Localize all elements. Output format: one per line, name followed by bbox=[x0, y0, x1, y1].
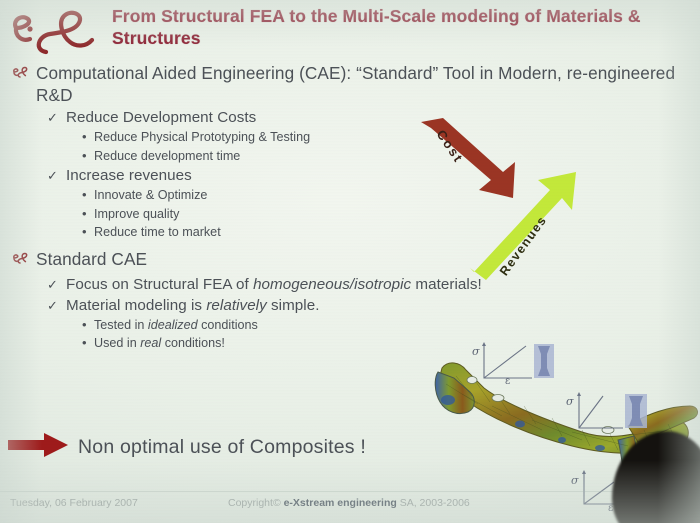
bullet-level3-reduce-prototyping: • Reduce Physical Prototyping & Testing bbox=[0, 128, 700, 147]
exstream-logo-icon bbox=[8, 6, 104, 58]
dot-bullet-icon: • bbox=[82, 146, 87, 165]
footer-divider bbox=[0, 491, 700, 492]
checkmark-icon: ✓ bbox=[47, 274, 58, 295]
bullet-text-emphasis: homogeneous/isotropic bbox=[253, 276, 411, 293]
bullet-text: Reduce time to market bbox=[94, 225, 221, 239]
conclusion-arrow-icon bbox=[8, 432, 70, 463]
conclusion-row: Non optimal use of Composites ! bbox=[8, 432, 366, 463]
footer-copyright: Copyright© e-Xstream engineering SA, 200… bbox=[228, 497, 470, 509]
bullet-text-emphasis: real bbox=[140, 336, 161, 350]
sigma-label-2: σ bbox=[566, 395, 574, 408]
exstream-bullet-icon bbox=[12, 63, 29, 85]
page-title: From Structural FEA to the Multi-Scale m… bbox=[112, 5, 690, 49]
dot-bullet-icon: • bbox=[82, 127, 87, 146]
slide-footer: Tuesday, 06 February 2007 Copyright© e-X… bbox=[0, 497, 700, 513]
bullet-text: Reduce Physical Prototyping & Testing bbox=[94, 130, 310, 144]
bullet-text-suffix: simple. bbox=[267, 297, 320, 314]
bullet-level3-tested-idealized: • Tested in idealized conditions bbox=[0, 316, 700, 335]
stress-strain-diagram-1 bbox=[470, 340, 562, 393]
bullet-level3-reduce-development-time: • Reduce development time bbox=[0, 147, 700, 166]
bullet-text: Improve quality bbox=[94, 207, 179, 221]
bullet-text: Reduce Development Costs bbox=[66, 109, 256, 126]
bullet-text: Innovate & Optimize bbox=[94, 188, 207, 202]
presentation-slide: From Structural FEA to the Multi-Scale m… bbox=[0, 0, 700, 523]
bullet-level2-material-modeling: ✓ Material modeling is relatively simple… bbox=[0, 295, 700, 316]
revenues-arrow-icon bbox=[470, 172, 596, 282]
bullet-text-suffix: conditions bbox=[198, 318, 258, 332]
stress-strain-diagram-2 bbox=[565, 390, 657, 443]
epsilon-label-1: ε bbox=[505, 376, 510, 387]
bullet-level1-cae: Computational Aided Engineering (CAE): “… bbox=[0, 62, 700, 106]
checkmark-icon: ✓ bbox=[47, 295, 58, 316]
bullet-text-prefix: Tested in bbox=[94, 318, 148, 332]
sigma-label-3: σ bbox=[571, 474, 579, 487]
copyright-company: e-Xstream engineering bbox=[284, 497, 397, 509]
bullet-text-prefix: Used in bbox=[94, 336, 140, 350]
dot-bullet-icon: • bbox=[82, 185, 87, 204]
conclusion-text: Non optimal use of Composites ! bbox=[78, 436, 366, 459]
bullet-text: Increase revenues bbox=[66, 167, 192, 184]
bullet-text-emphasis: relatively bbox=[206, 297, 266, 314]
dot-bullet-icon: • bbox=[82, 222, 87, 241]
bullet-text-prefix: Focus on Structural FEA of bbox=[66, 276, 253, 293]
bullet-text: Computational Aided Engineering (CAE): “… bbox=[36, 63, 675, 105]
bullet-text-emphasis: idealized bbox=[148, 318, 198, 332]
dot-bullet-icon: • bbox=[82, 204, 87, 223]
dot-bullet-icon: • bbox=[82, 333, 87, 352]
copyright-prefix: Copyright© bbox=[228, 497, 284, 509]
checkmark-icon: ✓ bbox=[47, 107, 58, 128]
bullet-text-suffix: conditions! bbox=[161, 336, 225, 350]
bullet-text: Reduce development time bbox=[94, 149, 240, 163]
footer-date: Tuesday, 06 February 2007 bbox=[10, 497, 138, 509]
dot-bullet-icon: • bbox=[82, 315, 87, 334]
bullet-text-prefix: Material modeling is bbox=[66, 297, 206, 314]
copyright-suffix: SA, 2003-2006 bbox=[397, 497, 470, 509]
exstream-bullet-icon bbox=[12, 249, 29, 271]
bullet-text: Standard CAE bbox=[36, 249, 147, 269]
bullet-level2-reduce-development-costs: ✓ Reduce Development Costs bbox=[0, 107, 700, 128]
sigma-label-1: σ bbox=[472, 345, 480, 358]
checkmark-icon: ✓ bbox=[47, 165, 58, 186]
